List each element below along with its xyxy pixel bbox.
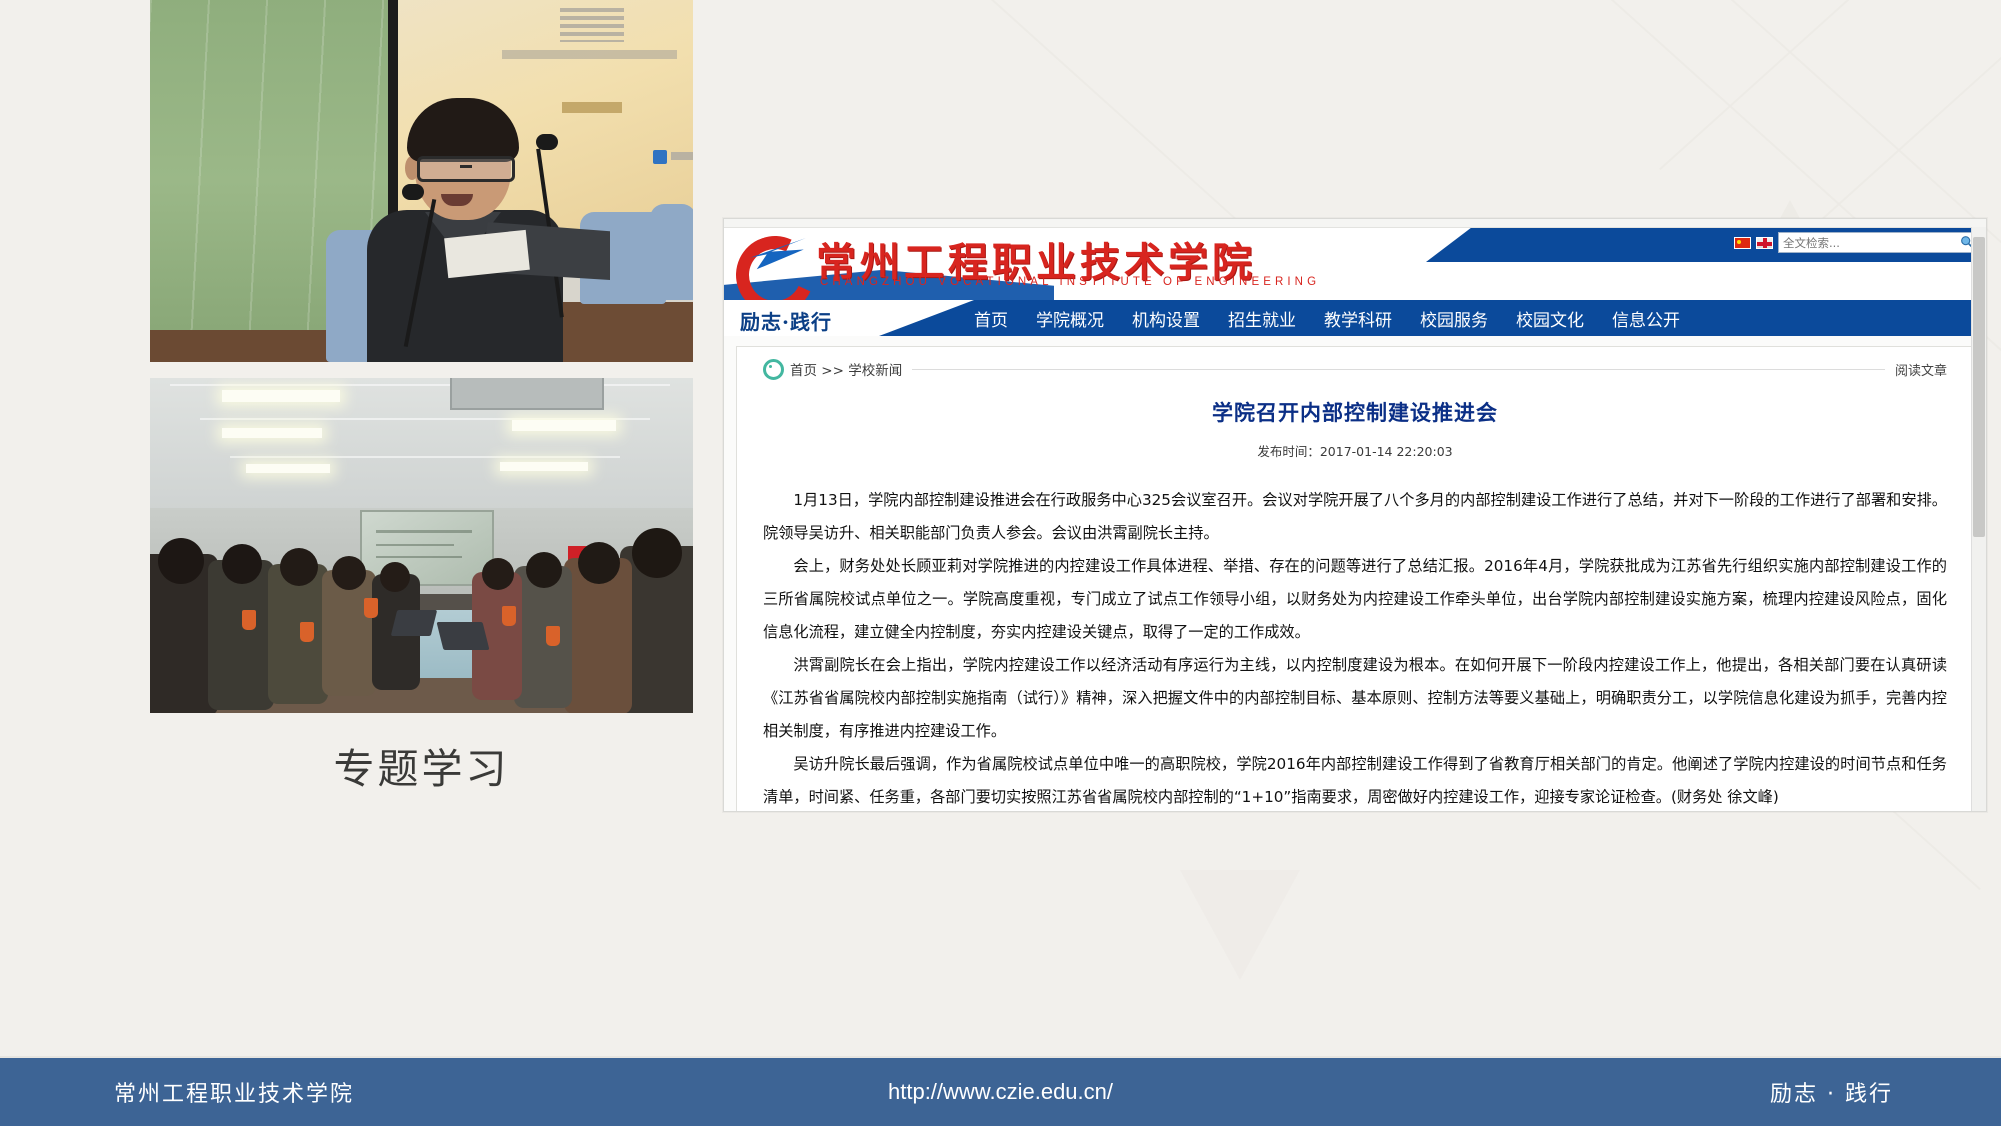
article-card: 首页 >> 学校新闻 阅读文章 学院召开内部控制建设推进会 发布时间：2017-… xyxy=(736,346,1974,812)
photo2-attendee-head xyxy=(280,548,318,586)
photo2-attendee-head xyxy=(222,544,262,584)
flag-china-icon[interactable] xyxy=(1734,237,1751,249)
scrollbar-thumb[interactable] xyxy=(1973,237,1985,537)
flag-english-icon[interactable] xyxy=(1756,237,1773,249)
nav-item-overview[interactable]: 学院概况 xyxy=(1036,306,1104,331)
read-article-label: 阅读文章 xyxy=(1895,360,1947,379)
photo2-ceiling-light xyxy=(500,462,588,471)
slide-footer: 常州工程职业技术学院 http://www.czie.edu.cn/ 励志 · … xyxy=(0,1058,2001,1126)
photo1-speaker-hair xyxy=(407,98,519,162)
photo1-speaker-glasses xyxy=(417,156,515,182)
article-title: 学院召开内部控制建设推进会 xyxy=(763,397,1947,427)
photo2-ceiling-light xyxy=(222,390,340,402)
footer-motto: 励志 · 践行 xyxy=(1770,1076,1893,1108)
article-body: 1月13日，学院内部控制建设推进会在行政服务中心325会议室召开。会议对学院开展… xyxy=(763,484,1947,812)
photo2-tea-cup xyxy=(502,606,516,626)
bg-chevron xyxy=(1659,0,2001,170)
nav-item-admission[interactable]: 招生就业 xyxy=(1228,306,1296,331)
photo2-ceiling-light xyxy=(222,428,322,438)
nav-item-list: 首页 学院概况 机构设置 招生就业 教学科研 校园服务 校园文化 信息公开 xyxy=(974,300,1680,336)
photo2-ceiling-line xyxy=(230,456,620,458)
browser-top-strip xyxy=(724,219,1986,228)
photo2-attendee-head xyxy=(526,552,562,588)
photo1-chair xyxy=(650,204,693,300)
article-date: 发布时间：2017-01-14 22:20:03 xyxy=(763,441,1947,460)
photo2-air-vent xyxy=(450,378,604,410)
footer-url[interactable]: http://www.czie.edu.cn/ xyxy=(888,1079,1113,1105)
website-screenshot: 常州工程职业技术学院 CHANGZHOU VOCATIONAL INSTITUT… xyxy=(723,218,1987,812)
presentation-slide: 专题学习 常州工程职业技术学院 CHANGZHOU VOCATIONAL INS… xyxy=(0,0,2001,1126)
nav-item-services[interactable]: 校园服务 xyxy=(1420,306,1488,331)
breadcrumb: 首页 >> 学校新闻 阅读文章 xyxy=(763,357,1947,381)
photo1-papers xyxy=(444,230,530,278)
photo1-microphone-head xyxy=(402,184,424,200)
page-scrollbar[interactable] xyxy=(1971,227,1986,811)
article-paragraph: 会上，财务处处长顾亚莉对学院推进的内控建设工作具体进程、举措、存在的问题等进行了… xyxy=(763,550,1947,649)
location-icon xyxy=(763,359,784,380)
site-navigation: 励志·践行 首页 学院概况 机构设置 招生就业 教学科研 校园服务 校园文化 信… xyxy=(724,300,1986,336)
nav-item-disclosure[interactable]: 信息公开 xyxy=(1612,306,1680,331)
photo1-slide-title xyxy=(502,50,677,59)
school-emblem-icon xyxy=(734,232,806,296)
search-box[interactable] xyxy=(1778,232,1978,253)
photo1-slide-badge-label xyxy=(671,152,693,160)
emblem-c-shape xyxy=(725,228,825,300)
photo2-laptop xyxy=(437,622,490,650)
photo2-screen-line xyxy=(376,556,462,558)
photo2-attendee-head xyxy=(332,556,366,590)
article-paragraph: 1月13日，学院内部控制建设推进会在行政服务中心325会议室召开。会议对学院开展… xyxy=(763,484,1947,550)
photo2-screen-line xyxy=(376,530,472,533)
header-search-area xyxy=(1734,232,1978,253)
photo2-attendee-head xyxy=(380,562,410,592)
bg-triangle xyxy=(1180,870,1300,980)
photo2-tea-cup xyxy=(242,610,256,630)
photo-speaker-at-podium xyxy=(150,0,693,362)
nav-item-org[interactable]: 机构设置 xyxy=(1132,306,1200,331)
photo-meeting-room xyxy=(150,378,693,713)
photo1-microphone-head xyxy=(536,134,558,150)
school-name-english: CHANGZHOU VOCATIONAL INSTITUTE OF ENGINE… xyxy=(820,276,1320,288)
breadcrumb-text[interactable]: 首页 >> 学校新闻 xyxy=(790,359,902,379)
site-body: 首页 >> 学校新闻 阅读文章 学院召开内部控制建设推进会 发布时间：2017-… xyxy=(724,336,1986,812)
search-input[interactable] xyxy=(1779,234,1955,251)
photo2-attendee-head xyxy=(578,542,620,584)
photo1-slide-badge xyxy=(653,150,667,164)
photo2-ceiling-light xyxy=(512,420,616,431)
breadcrumb-rule xyxy=(912,369,1885,370)
photo2-screen-line xyxy=(376,544,454,546)
photo2-laptop xyxy=(391,610,437,636)
photo2-tea-cup xyxy=(300,622,314,642)
photo2-attendee-head xyxy=(482,558,514,590)
nav-motto: 励志·践行 xyxy=(740,306,832,335)
photo2-attendee-head xyxy=(158,538,204,584)
site-header: 常州工程职业技术学院 CHANGZHOU VOCATIONAL INSTITUT… xyxy=(724,228,1986,300)
photo2-tea-cup xyxy=(546,626,560,646)
footer-school-name: 常州工程职业技术学院 xyxy=(114,1076,354,1108)
nav-item-culture[interactable]: 校园文化 xyxy=(1516,306,1584,331)
photo2-ceiling-light xyxy=(246,464,330,473)
nav-item-home[interactable]: 首页 xyxy=(974,306,1008,331)
photo1-slide-subtitle xyxy=(562,102,622,113)
photo2-tea-cup xyxy=(364,598,378,618)
slide-caption: 专题学习 xyxy=(150,735,693,795)
article-paragraph: 吴访升院长最后强调，作为省属院校试点单位中唯一的高职院校，学院2016年内部控制… xyxy=(763,748,1947,812)
nav-item-research[interactable]: 教学科研 xyxy=(1324,306,1392,331)
photo2-attendee-head xyxy=(632,528,682,578)
article-paragraph: 洪霄副院长在会上指出，学院内控建设工作以经济活动有序运行为主线，以内控制度建设为… xyxy=(763,649,1947,748)
photo1-slide-logo xyxy=(560,8,624,42)
